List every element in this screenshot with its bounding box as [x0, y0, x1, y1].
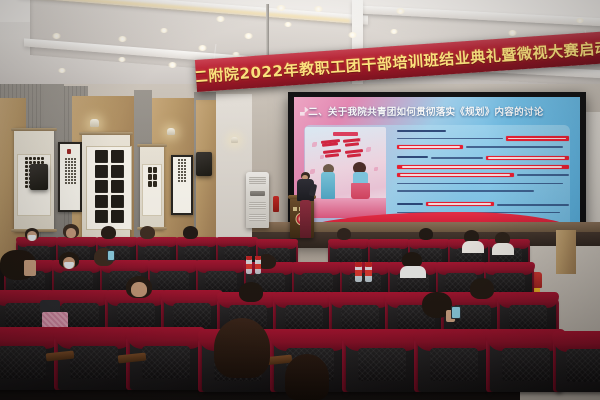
- auditorium-seat: [490, 332, 562, 392]
- calligraphy-scroll: [140, 144, 164, 230]
- auditorium-photo: 文大二附院2022年教职工团干部培训班结业典礼暨微视大赛启动仪式 二、关于我院共…: [0, 0, 600, 400]
- wall-sconce: [167, 128, 175, 135]
- attendee: [100, 226, 117, 244]
- right-wall-base: [556, 230, 576, 274]
- attendee: [492, 232, 514, 254]
- calligraphy-couplet: [86, 146, 132, 230]
- auditorium-seat: [556, 334, 600, 392]
- attendee-foreground: [282, 354, 332, 400]
- attendee: [139, 226, 156, 244]
- air-conditioner: [246, 172, 269, 228]
- wall-speaker: [196, 152, 212, 176]
- attendee-with-phone: [122, 276, 156, 312]
- presentation-slide: 二、关于我院共青团如何贯彻落实《规划》内容的讨论: [294, 97, 580, 235]
- attendee: [462, 230, 484, 252]
- attendee: [466, 278, 498, 312]
- attendee: [236, 282, 266, 314]
- attendee: [24, 228, 40, 244]
- water-bottle: [255, 256, 261, 274]
- wall-sconce: [90, 119, 99, 127]
- wall-sconce: [231, 137, 238, 143]
- auditorium-seat: [346, 332, 418, 392]
- water-bottle: [365, 262, 372, 282]
- framed-calligraphy: [58, 142, 82, 212]
- attendee: [400, 252, 426, 278]
- attendee-foreground: [0, 250, 44, 294]
- fire-extinguisher: [273, 196, 279, 212]
- attendee: [92, 248, 116, 274]
- poster-figure-right-skirt: [351, 183, 370, 199]
- attendee: [418, 228, 434, 246]
- attendee-with-phone: [420, 292, 462, 336]
- wall-speaker: [30, 164, 48, 190]
- speaker-lower-body: [300, 200, 311, 238]
- water-bottle: [355, 262, 362, 282]
- poster-tag: [333, 132, 359, 137]
- attendee: [62, 224, 80, 244]
- slide-title: 二、关于我院共青团如何贯彻落实《规划》内容的讨论: [308, 104, 571, 118]
- poster-title: [320, 138, 373, 162]
- attendee: [182, 226, 199, 244]
- water-bottle: [246, 256, 252, 274]
- poster-figure-left: [321, 172, 335, 199]
- attendee-foreground: [210, 318, 274, 400]
- framed-calligraphy: [171, 155, 193, 215]
- attendee: [58, 252, 80, 274]
- auditorium-seat: [418, 332, 490, 392]
- attendee: [336, 228, 352, 246]
